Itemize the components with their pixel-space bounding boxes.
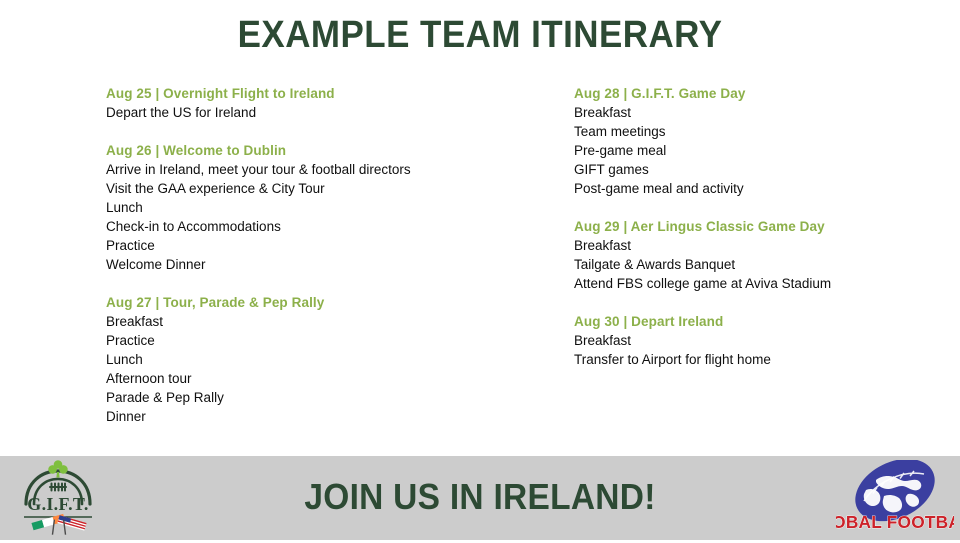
day-item: Pre-game meal (574, 141, 954, 160)
gift-logo: G.I.F.T. (10, 458, 106, 538)
day-header: Aug 25 | Overnight Flight to Ireland (106, 84, 546, 103)
day-item: Arrive in Ireland, meet your tour & foot… (106, 160, 546, 179)
page-title: EXAMPLE TEAM ITINERARY (38, 14, 921, 57)
day-item: Breakfast (106, 312, 546, 331)
itinerary-columns: Aug 25 | Overnight Flight to Ireland Dep… (0, 84, 960, 444)
itinerary-column-right: Aug 28 | G.I.F.T. Game Day Breakfast Tea… (574, 84, 954, 369)
day-header: Aug 30 | Depart Ireland (574, 312, 954, 331)
day-item: Practice (106, 331, 546, 350)
day-header: Aug 27 | Tour, Parade & Pep Rally (106, 293, 546, 312)
itinerary-column-left: Aug 25 | Overnight Flight to Ireland Dep… (106, 84, 546, 426)
day-block: Aug 30 | Depart Ireland Breakfast Transf… (574, 312, 954, 369)
day-item: Breakfast (574, 331, 954, 350)
day-item: Afternoon tour (106, 369, 546, 388)
day-block: Aug 29 | Aer Lingus Classic Game Day Bre… (574, 217, 954, 293)
day-header: Aug 26 | Welcome to Dublin (106, 141, 546, 160)
day-item: Depart the US for Ireland (106, 103, 546, 122)
day-item: Post-game meal and activity (574, 179, 954, 198)
slide-root: EXAMPLE TEAM ITINERARY Aug 25 | Overnigh… (0, 0, 960, 540)
day-item: Parade & Pep Rally (106, 388, 546, 407)
day-header: Aug 28 | G.I.F.T. Game Day (574, 84, 954, 103)
day-item: Breakfast (574, 103, 954, 122)
gift-logo-text: G.I.F.T. (27, 494, 88, 514)
day-block: Aug 27 | Tour, Parade & Pep Rally Breakf… (106, 293, 546, 426)
day-item: Welcome Dinner (106, 255, 546, 274)
footer-bar: JOIN US IN IRELAND! (0, 456, 960, 540)
day-item: Transfer to Airport for flight home (574, 350, 954, 369)
call-to-action-text: JOIN US IN IRELAND! (34, 476, 927, 518)
day-item: Lunch (106, 350, 546, 369)
day-block: Aug 28 | G.I.F.T. Game Day Breakfast Tea… (574, 84, 954, 198)
global-football-logo: GLOBAL FOOTBALL (836, 460, 954, 536)
day-item: GIFT games (574, 160, 954, 179)
global-football-logo-text: GLOBAL FOOTBALL (836, 512, 954, 532)
day-item: Dinner (106, 407, 546, 426)
us-flag-icon (55, 515, 87, 538)
football-laces-icon (50, 484, 66, 491)
shamrock-icon (48, 460, 67, 477)
day-item: Practice (106, 236, 546, 255)
day-item: Visit the GAA experience & City Tour (106, 179, 546, 198)
day-item: Attend FBS college game at Aviva Stadium (574, 274, 954, 293)
day-item: Tailgate & Awards Banquet (574, 255, 954, 274)
day-block: Aug 25 | Overnight Flight to Ireland Dep… (106, 84, 546, 122)
day-header: Aug 29 | Aer Lingus Classic Game Day (574, 217, 954, 236)
day-item: Lunch (106, 198, 546, 217)
day-item: Breakfast (574, 236, 954, 255)
day-item: Check-in to Accommodations (106, 217, 546, 236)
day-item: Team meetings (574, 122, 954, 141)
day-block: Aug 26 | Welcome to Dublin Arrive in Ire… (106, 141, 546, 274)
